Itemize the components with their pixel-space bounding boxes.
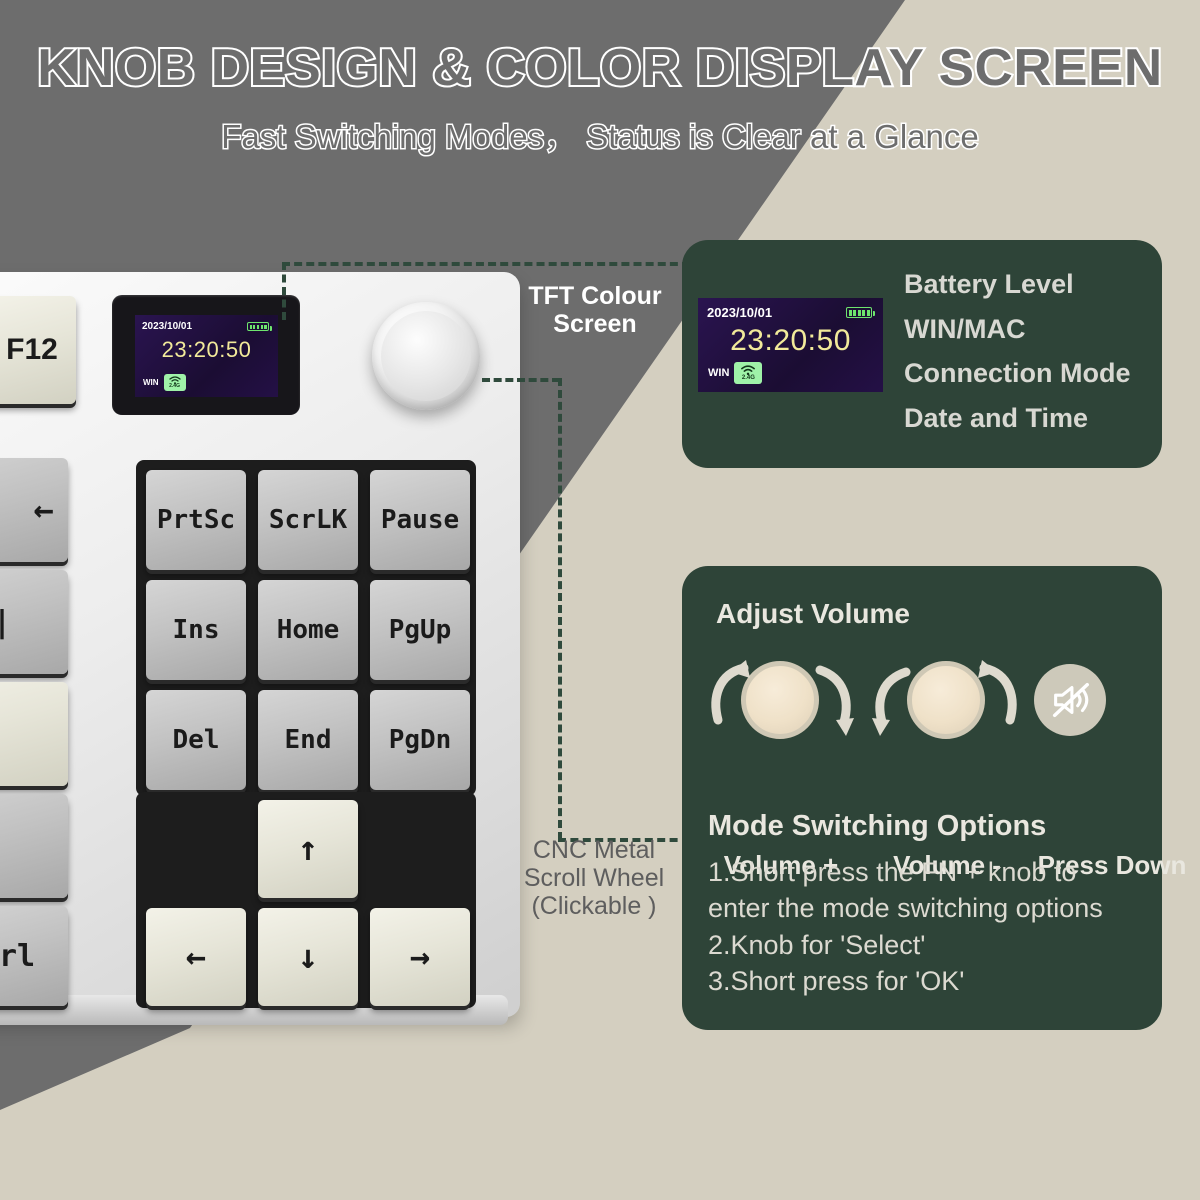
mode-step: enter the mode switching options xyxy=(708,890,1148,926)
mute-speaker-icon xyxy=(1034,664,1106,736)
nav-key-pgup: PgUp xyxy=(370,580,470,680)
arrow-key-down: ↓ xyxy=(258,908,358,1006)
connector-tft-horizontal xyxy=(282,262,690,266)
adjust-volume-title: Adjust Volume xyxy=(716,598,910,630)
nav-key-pause: Pause xyxy=(370,470,470,570)
rotary-knob[interactable] xyxy=(372,302,480,410)
connector-knob-vertical xyxy=(558,378,562,840)
wifi-band-label: 2.4G xyxy=(742,375,755,381)
page-subtitle: Fast Switching Modes， Status is Clear at… xyxy=(0,110,1200,158)
feature-item: WIN/MAC xyxy=(904,307,1152,352)
volume-down-knob-icon xyxy=(872,654,1022,744)
feature-item: Date and Time xyxy=(904,396,1152,441)
kb-screen-time: 23:20:50 xyxy=(135,337,278,363)
connector-knob-horizontal xyxy=(482,378,560,382)
feature-card-display: 2023/10/01 23:20:50 WIN 2.4G Battery Lev… xyxy=(682,240,1162,468)
screen-time: 23:20:50 xyxy=(698,324,883,358)
arrow-key-left: ← xyxy=(146,908,246,1006)
screen-connection-mode: WIN 2.4G xyxy=(708,362,762,384)
key-backspace: ← xyxy=(0,458,68,562)
arrow-key-right: → xyxy=(370,908,470,1006)
feature-item: Connection Mode xyxy=(904,351,1152,396)
callout-tft-colour-screen: TFT Colour Screen xyxy=(500,282,690,338)
callout-cnc-scroll-wheel: CNC Metal Scroll Wheel (Clickable ) xyxy=(498,836,690,920)
callout-tft-line1: TFT Colour xyxy=(500,282,690,310)
kb-wifi-icon: 2.4G xyxy=(164,374,186,391)
callout-wheel-line1: CNC Metal xyxy=(498,836,690,864)
nav-key-scrlk: ScrLK xyxy=(258,470,358,570)
callout-wheel-line2: Scroll Wheel xyxy=(498,864,690,892)
header: KNOB DESIGN & COLOR DISPLAY SCREEN Fast … xyxy=(0,0,1200,158)
volume-down-group: Volume - xyxy=(872,654,1022,744)
volume-up-knob-icon xyxy=(706,654,856,744)
mode-step: 3.Short press for 'OK' xyxy=(708,963,1148,999)
nav-key-home: Home xyxy=(258,580,358,680)
feature-item: Battery Level xyxy=(904,262,1152,307)
press-down-icon-wrap xyxy=(1004,654,1200,744)
tft-screen-mock: 2023/10/01 23:20:50 WIN 2.4G xyxy=(698,298,883,392)
connector-tft-vertical xyxy=(282,262,286,320)
battery-icon xyxy=(846,307,872,318)
nav-key-end: End xyxy=(258,690,358,790)
press-down-group: Press Down xyxy=(1004,654,1200,744)
mute-glyph xyxy=(1047,677,1093,723)
kb-screen-mode: WIN 2.4G xyxy=(143,374,186,391)
nav-key-pgdn: PgDn xyxy=(370,690,470,790)
key-shift xyxy=(0,794,68,898)
key-enter: ter xyxy=(0,682,68,786)
wifi-icon: 2.4G xyxy=(734,362,762,384)
display-feature-list: Battery Level WIN/MAC Connection Mode Da… xyxy=(904,262,1152,440)
page-title: KNOB DESIGN & COLOR DISPLAY SCREEN xyxy=(0,38,1200,98)
mode-switching-steps: 1.Short press the FN + knob to enter the… xyxy=(708,854,1148,1000)
rotate-arrow-down-right-icon xyxy=(808,658,860,740)
callout-wheel-line3: (Clickable ) xyxy=(498,892,690,920)
rotate-arrow-up-left-icon xyxy=(704,658,756,740)
kb-screen-date: 2023/10/01 xyxy=(142,321,192,332)
mode-step: 2.Knob for 'Select' xyxy=(708,927,1148,963)
mode-switching-title: Mode Switching Options xyxy=(708,810,1046,843)
keyboard-tft-bezel: 2023/10/01 23:20:50 WIN 2.4G xyxy=(112,295,300,415)
callout-tft-line2: Screen xyxy=(500,310,690,338)
key-ctrl: Ctrl xyxy=(0,906,68,1006)
mode-step: 1.Short press the FN + knob to xyxy=(708,854,1148,890)
arrow-key-up: ↑ xyxy=(258,800,358,898)
volume-up-group: Volume + xyxy=(706,654,856,744)
feature-card-volume: Adjust Volume Volume + xyxy=(682,566,1162,1030)
key-backslash: \ | xyxy=(0,570,68,674)
rotate-arrow-down-left-icon xyxy=(866,658,918,740)
kb-mode-label: WIN xyxy=(143,378,159,387)
screen-mode-label: WIN xyxy=(708,367,729,379)
keyboard-tft-display: 2023/10/01 23:20:50 WIN 2.4G xyxy=(135,315,278,397)
kb-battery-icon xyxy=(247,322,269,331)
nav-key-prtsc: PrtSc xyxy=(146,470,246,570)
nav-key-del: Del xyxy=(146,690,246,790)
kb-wifi-band: 2.4G xyxy=(169,384,180,389)
keyboard-product-image: F12 ← \ | ter Ctrl 2023/10/01 23:20:50 W… xyxy=(0,272,520,1037)
key-f12: F12 xyxy=(0,296,76,404)
screen-date: 2023/10/01 xyxy=(707,305,772,320)
nav-key-ins: Ins xyxy=(146,580,246,680)
